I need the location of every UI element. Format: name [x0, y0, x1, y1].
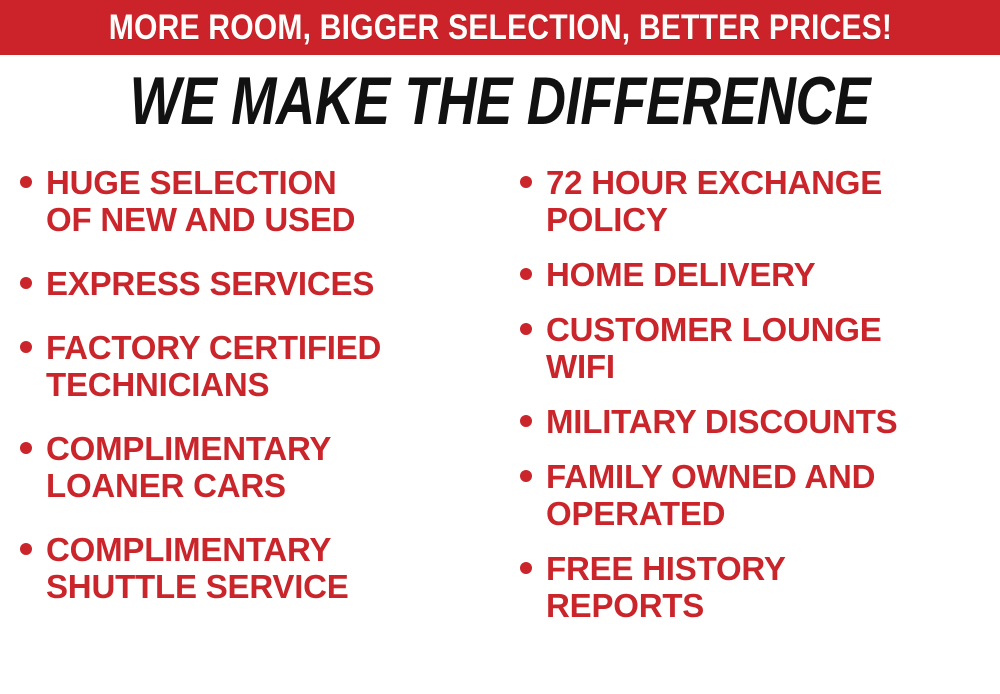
feature-column-left: HUGE SELECTION OF NEW AND USED EXPRESS S… — [0, 150, 500, 632]
headline-container: WE MAKE THE DIFFERENCE — [0, 62, 1000, 140]
list-item-label: MILITARY DISCOUNTS — [546, 403, 897, 440]
bullet-dot-icon — [520, 415, 532, 427]
list-item: COMPLIMENTARY SHUTTLE SERVICE — [20, 531, 500, 605]
feature-column-right: 72 HOUR EXCHANGE POLICY HOME DELIVERY CU… — [500, 150, 1000, 642]
page-title: WE MAKE THE DIFFERENCE — [130, 66, 871, 136]
bullet-dot-icon — [20, 277, 32, 289]
bullet-dot-icon — [520, 562, 532, 574]
list-item-label: COMPLIMENTARY LOANER CARS — [46, 430, 331, 504]
list-item: EXPRESS SERVICES — [20, 265, 500, 302]
promo-banner-text: MORE ROOM, BIGGER SELECTION, BETTER PRIC… — [108, 10, 891, 46]
promo-banner: MORE ROOM, BIGGER SELECTION, BETTER PRIC… — [0, 0, 1000, 55]
list-item: 72 HOUR EXCHANGE POLICY — [520, 164, 1000, 238]
bullet-dot-icon — [520, 268, 532, 280]
bullet-dot-icon — [520, 470, 532, 482]
list-item-label: EXPRESS SERVICES — [46, 265, 374, 302]
bullet-dot-icon — [520, 176, 532, 188]
bullet-dot-icon — [20, 341, 32, 353]
list-item: COMPLIMENTARY LOANER CARS — [20, 430, 500, 504]
list-item: MILITARY DISCOUNTS — [520, 403, 1000, 440]
bullet-dot-icon — [20, 543, 32, 555]
list-item: HUGE SELECTION OF NEW AND USED — [20, 164, 500, 238]
feature-columns: HUGE SELECTION OF NEW AND USED EXPRESS S… — [0, 150, 1000, 694]
list-item-label: HUGE SELECTION OF NEW AND USED — [46, 164, 355, 238]
list-item-label: CUSTOMER LOUNGE WIFI — [546, 311, 882, 385]
list-item-label: HOME DELIVERY — [546, 256, 815, 293]
list-item: FAMILY OWNED AND OPERATED — [520, 458, 1000, 532]
list-item-label: COMPLIMENTARY SHUTTLE SERVICE — [46, 531, 349, 605]
bullet-dot-icon — [520, 323, 532, 335]
list-item: CUSTOMER LOUNGE WIFI — [520, 311, 1000, 385]
list-item: FACTORY CERTIFIED TECHNICIANS — [20, 329, 500, 403]
list-item-label: FAMILY OWNED AND OPERATED — [546, 458, 875, 532]
bullet-dot-icon — [20, 176, 32, 188]
list-item-label: FACTORY CERTIFIED TECHNICIANS — [46, 329, 381, 403]
list-item-label: 72 HOUR EXCHANGE POLICY — [546, 164, 882, 238]
list-item: HOME DELIVERY — [520, 256, 1000, 293]
bullet-dot-icon — [20, 442, 32, 454]
list-item-label: FREE HISTORY REPORTS — [546, 550, 786, 624]
list-item: FREE HISTORY REPORTS — [520, 550, 1000, 624]
